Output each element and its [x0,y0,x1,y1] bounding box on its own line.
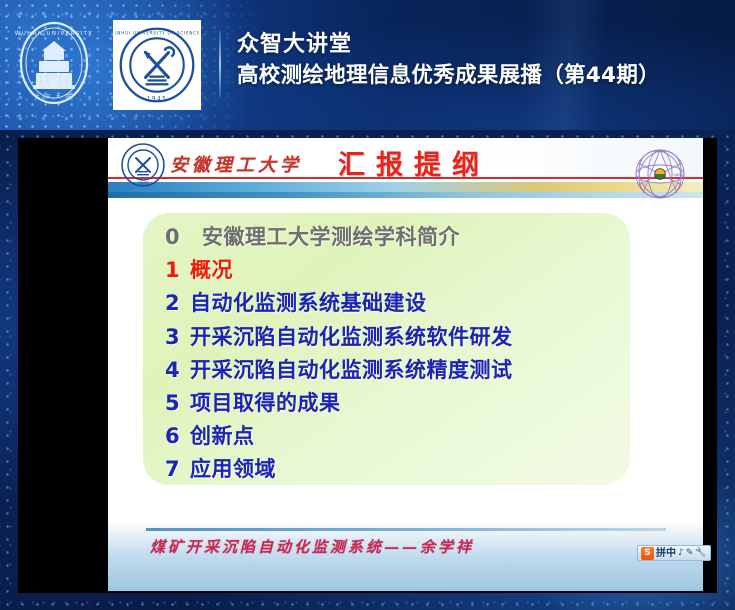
slide-aust-logo-icon: 1945 [120,142,166,188]
outline-item-3: 3 开采沉陷自动化监测系统软件研发 [165,321,635,354]
svg-text:ANHUI UNIVERSITY OF SCIENCE: ANHUI UNIVERSITY OF SCIENCE [115,30,199,35]
slide-header-cyan-bar [108,192,703,198]
outline-item-1: 1 概况 [165,254,635,287]
slide-footer-text: 煤矿开采沉陷自动化监测系统——余学祥 [150,536,474,557]
wuhan-university-logo-icon: WUHAN UNIVERSITY 武 汉 大 学 [14,17,94,109]
outline-item-0: 0 安徽理工大学测绘学科简介 [165,221,635,254]
outline-item-7: 7 应用领域 [165,453,635,486]
ime-wrench-icon[interactable]: 🔧 [695,547,706,560]
outline-list: 0 安徽理工大学测绘学科简介 1 概况 2 自动化监测系统基础建设 3 [165,221,635,487]
ime-note-icon[interactable]: ♪ [678,547,684,560]
banner-title-secondary: 高校测绘地理信息优秀成果展播（第44期） [237,60,717,92]
outline-item-6-number: 6 [165,424,180,448]
geodetic-network-globe-icon: GNSS [629,145,691,203]
aust-university-logo-icon: ANHUI UNIVERSITY OF SCIENCE 1945 [113,20,201,110]
outline-item-0-number: 0 [165,225,180,249]
slide-header: 1945 安徽理工大学 汇报提纲 [108,138,703,208]
svg-text:GNSS: GNSS [673,173,684,177]
sogou-logo-icon[interactable]: S [641,547,654,560]
outline-item-1-label: 概况 [190,254,233,284]
outline-item-5: 5 项目取得的成果 [165,387,635,420]
outline-item-5-label: 项目取得的成果 [190,387,341,417]
outline-item-3-number: 3 [165,325,180,349]
slide-body: 0 安徽理工大学测绘学科简介 1 概况 2 自动化监测系统基础建设 3 [108,208,703,521]
outline-item-7-number: 7 [165,457,180,481]
slide-university-name: 安徽理工大学 [170,151,302,177]
outline-panel: 0 安徽理工大学测绘学科简介 1 概况 2 自动化监测系统基础建设 3 [143,213,630,485]
banner-divider [219,30,221,98]
ime-pen-icon[interactable]: ✎ [686,547,694,560]
slide-header-color-bar [108,182,703,192]
aust-logo-year: 1945 [147,96,167,102]
screen-root: WUHAN UNIVERSITY 武 汉 大 学 AN [0,0,735,610]
outline-item-1-number: 1 [165,258,180,282]
outline-item-6-label: 创新点 [190,420,255,450]
slide-footer: 煤矿开采沉陷自动化监测系统——余学祥 [108,521,703,591]
banner-title-block: 众智大讲堂 高校测绘地理信息优秀成果展播（第44期） [237,30,717,92]
svg-text:WUHAN UNIVERSITY: WUHAN UNIVERSITY [15,31,93,37]
slide-page-title: 汇报提纲 [338,143,490,182]
event-banner: WUHAN UNIVERSITY 武 汉 大 学 AN [0,0,735,130]
outline-item-7-label: 应用领域 [190,453,276,483]
outline-item-2-number: 2 [165,291,180,315]
svg-text:1945: 1945 [138,181,149,186]
outline-item-6: 6 创新点 [165,420,635,453]
outline-item-2-label: 自动化监测系统基础建设 [190,287,427,317]
outline-item-3-label: 开采沉陷自动化监测系统软件研发 [190,321,513,351]
presentation-slide: 1945 安徽理工大学 汇报提纲 [108,138,703,591]
svg-text:武 汉 大 学: 武 汉 大 学 [35,93,74,100]
outline-item-5-number: 5 [165,391,180,415]
ime-mode-label[interactable]: 拼中 [656,547,676,560]
outline-item-4-number: 4 [165,358,180,382]
video-stage: 1945 安徽理工大学 汇报提纲 [0,130,735,610]
outline-item-4: 4 开采沉陷自动化监测系统精度测试 [165,354,635,387]
footer-rule [146,528,666,531]
outline-item-4-label: 开采沉陷自动化监测系统精度测试 [190,354,513,384]
outline-item-0-label: 安徽理工大学测绘学科简介 [202,221,460,251]
sogou-ime-toolbar[interactable]: S 拼中 ♪ ✎ 🔧 [637,545,711,561]
banner-title-primary: 众智大讲堂 [237,30,717,60]
outline-item-2: 2 自动化监测系统基础建设 [165,287,635,320]
